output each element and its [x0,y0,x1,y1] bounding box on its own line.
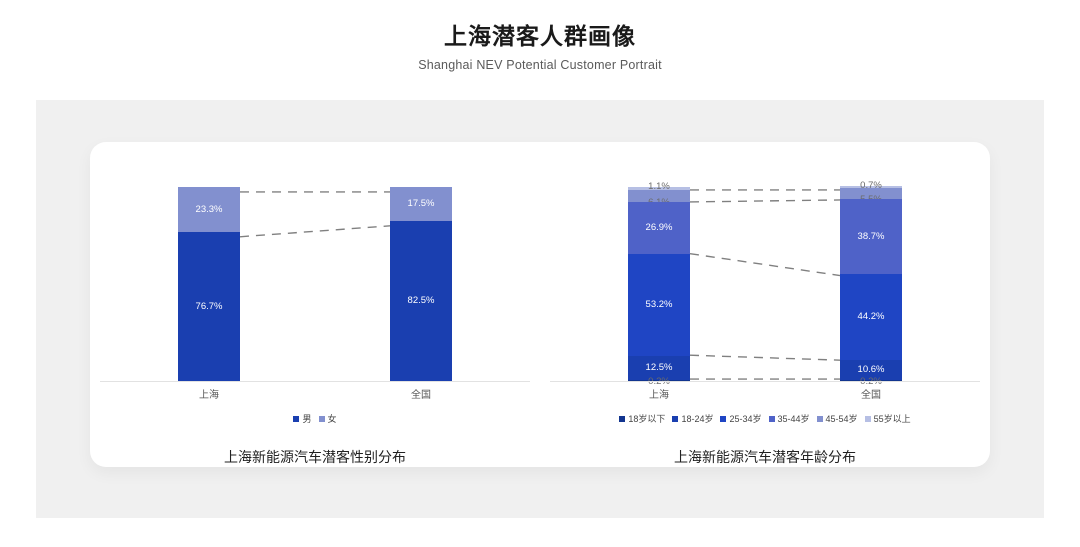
bar-gender-national[interactable]: 17.5% 82.5% [390,187,452,381]
legend-swatch-male-icon [293,416,299,422]
legend-label-35-44: 35-44岁 [778,412,810,425]
segment-male-national[interactable]: 82.5% [390,221,452,381]
chart-caption-age: 上海新能源汽车潜客年龄分布 [674,447,856,467]
segment-female-shanghai[interactable]: 23.3% [178,187,240,232]
page-subtitle: Shanghai NEV Potential Customer Portrait [0,58,1080,72]
legend-swatch-female-icon [319,416,325,422]
segment-label-35-44-shanghai: 26.9% [646,223,673,233]
outer-panel: 23.3% 76.7% 17.5% 82.5% 上海 [36,100,1044,518]
legend-item-18-24[interactable]: 18-24岁 [672,412,713,425]
legend-label-55over: 55岁以上 [874,412,911,425]
legend-label-45-54: 45-54岁 [826,412,858,425]
tick-label-national-age: 全国 [840,386,902,401]
tick-label-national-gender: 全国 [390,386,452,401]
segment-35-44-shanghai[interactable]: 26.9% [628,202,690,254]
tick-label-shanghai-age: 上海 [628,386,690,401]
page-header: 上海潜客人群画像 Shanghai NEV Potential Customer… [0,0,1080,72]
segment-35-44-national[interactable]: 38.7% [840,199,902,274]
legend-item-18under[interactable]: 18岁以下 [619,412,665,425]
legend-swatch-55over-icon [865,416,871,422]
segment-female-national[interactable]: 17.5% [390,187,452,221]
chart-panel-gender: 23.3% 76.7% 17.5% 82.5% 上海 [90,142,540,467]
legend-item-male[interactable]: 男 [293,412,311,425]
chart-caption-gender: 上海新能源汽车潜客性别分布 [224,447,406,467]
legend-item-55over[interactable]: 55岁以上 [865,412,911,425]
legend-swatch-35-44-icon [769,416,775,422]
legend-swatch-18-24-icon [672,416,678,422]
legend-age: 18岁以下 18-24岁 25-34岁 35-44岁 45-54岁 [619,412,910,425]
legend-label-male: 男 [302,412,311,425]
chart-panel-age: 1.1% 6.1% 26.9% 53.2% 12.5% 0. [540,142,990,467]
bar-age-national[interactable]: 0.7% 5.5% 38.7% 44.2% 10.6% 0. [840,186,902,381]
page-title: 上海潜客人群画像 [0,22,1080,51]
segment-45-54-shanghai[interactable]: 6.1% [628,190,690,202]
legend-item-female[interactable]: 女 [319,412,337,425]
segment-label-35-44-national: 38.7% [858,232,885,242]
category-ticks-gender: 上海 全国 [100,386,530,404]
segment-label-male-national: 82.5% [408,296,435,306]
segment-label-18-24-national: 10.6% [858,365,885,375]
segment-label-18-24-shanghai: 12.5% [646,363,673,373]
segment-label-25-34-shanghai: 53.2% [646,300,673,310]
legend-item-45-54[interactable]: 45-54岁 [817,412,858,425]
plot-area-age: 1.1% 6.1% 26.9% 53.2% 12.5% 0. [550,188,980,382]
tick-label-shanghai-gender: 上海 [178,386,240,401]
segment-male-shanghai[interactable]: 76.7% [178,232,240,381]
connector-lines-age [550,188,980,382]
segment-label-female-shanghai: 23.3% [196,205,223,215]
legend-label-18-24: 18-24岁 [681,412,713,425]
category-ticks-age: 上海 全国 [550,386,980,404]
segment-25-34-national[interactable]: 44.2% [840,274,902,360]
legend-label-18under: 18岁以下 [628,412,665,425]
segment-25-34-shanghai[interactable]: 53.2% [628,254,690,356]
bar-age-shanghai[interactable]: 1.1% 6.1% 26.9% 53.2% 12.5% 0. [628,187,690,381]
segment-label-male-shanghai: 76.7% [196,302,223,312]
segment-45-54-national[interactable]: 5.5% [840,188,902,199]
segment-label-25-34-national: 44.2% [858,312,885,322]
segment-label-female-national: 17.5% [408,199,435,209]
legend-item-25-34[interactable]: 25-34岁 [720,412,761,425]
legend-gender: 男 女 [293,412,336,425]
connector-lines-gender [100,188,530,382]
legend-item-35-44[interactable]: 35-44岁 [769,412,810,425]
axis-baseline-age [550,381,980,382]
axis-baseline-gender [100,381,530,382]
chart-card: 23.3% 76.7% 17.5% 82.5% 上海 [90,142,990,467]
plot-area-gender: 23.3% 76.7% 17.5% 82.5% [100,188,530,382]
legend-swatch-18under-icon [619,416,625,422]
legend-swatch-45-54-icon [817,416,823,422]
legend-label-female: 女 [328,412,337,425]
legend-swatch-25-34-icon [720,416,726,422]
legend-label-25-34: 25-34岁 [729,412,761,425]
bar-gender-shanghai[interactable]: 23.3% 76.7% [178,187,240,381]
